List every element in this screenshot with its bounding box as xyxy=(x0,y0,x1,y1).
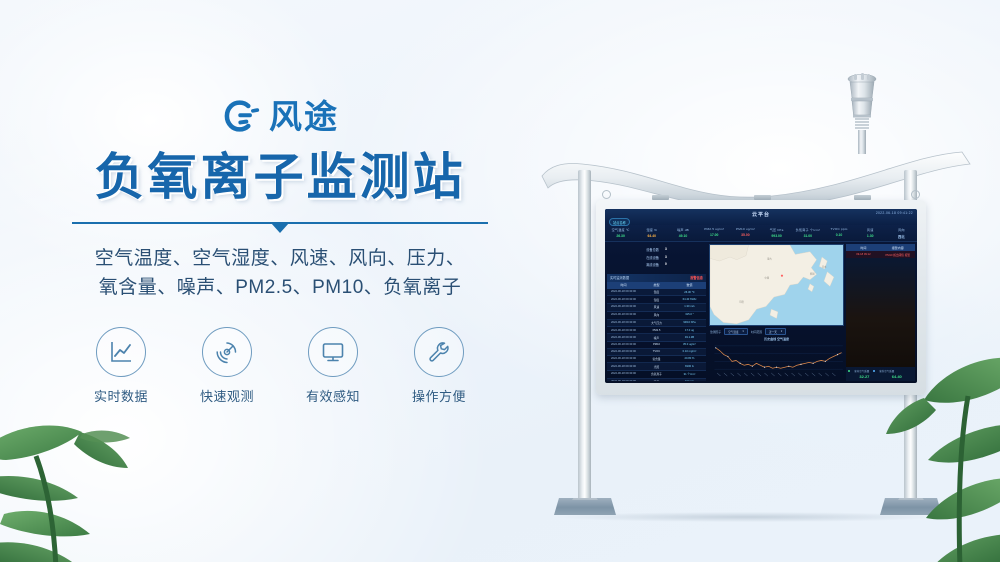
metric-card[interactable]: 湿度 % 64.40 xyxy=(636,225,667,241)
dashboard-header: 云平台 2022-06-18 09:41:22 站点名称 xyxy=(605,209,917,225)
page-title: 负氧离子监测站 xyxy=(0,150,560,204)
table-row[interactable]: 2022-06-18 09:30:00 湿度 64.40 %RH xyxy=(607,296,706,304)
metric-value: 49.10 xyxy=(667,234,698,238)
mount-ring-right xyxy=(911,190,920,199)
metric-name: TVOC ppm xyxy=(823,227,854,231)
metric-value: 31.00 xyxy=(792,234,823,238)
mount-tab-3 xyxy=(854,195,871,200)
feature-description: 空气温度、空气湿度、风速、风向、压力、 氧含量、噪声、PM2.5、PM10、负氧… xyxy=(0,244,560,303)
decorative-plant-left-icon xyxy=(0,328,204,562)
cell-value: 64.40 %RH xyxy=(673,298,706,302)
cell-type: 雨量 xyxy=(640,380,673,381)
cell-type: 负氧离子 xyxy=(640,372,673,376)
cell-time: 2022-06-18 09:30:00 xyxy=(607,290,640,294)
metric-card[interactable]: TVOC ppm 0.10 xyxy=(823,225,854,241)
metric-value: 西北 xyxy=(886,234,917,239)
table-row[interactable]: 2022-06-18 09:30:00 雨量 0.0 mm xyxy=(607,379,706,381)
table-header-bar: 实时监测数据 报警信息 xyxy=(607,274,706,282)
metric-value: 26.30 xyxy=(605,234,636,238)
metric-card[interactable]: 气压 hPa 993.00 xyxy=(761,225,792,241)
cell-value: 1.30 m/s xyxy=(673,305,706,309)
table-row[interactable]: 2022-06-18 09:30:00 温度 26.30 ℃ xyxy=(607,289,706,297)
chart-title: 历史曲线 空气温度 xyxy=(764,337,789,341)
feature-item-effective-sensing[interactable]: 有效感知 xyxy=(297,327,369,405)
dashboard-title: 云平台 xyxy=(752,211,770,218)
chevron-down-icon xyxy=(271,223,289,233)
fengtu-wind-logo-icon xyxy=(221,96,261,136)
alert-message: PM10 超出阈值 报警 xyxy=(881,253,915,257)
cell-time: 2022-06-18 09:30:00 xyxy=(607,336,640,340)
mount-tab-2 xyxy=(754,195,771,200)
time-range-select[interactable]: 近一天 ▾ xyxy=(765,328,786,335)
cell-type: 光照 xyxy=(640,365,673,369)
cell-time: 2022-06-18 09:30:00 xyxy=(607,350,640,353)
station-tag[interactable]: 站点名称 xyxy=(609,218,630,226)
metric-name: PM2.5 ug/m³ xyxy=(699,227,730,231)
table-row[interactable]: 2022-06-18 09:30:00 噪声 49.1 dB xyxy=(607,334,706,342)
cell-type: PM10 xyxy=(640,343,673,346)
brand-name: 风途 xyxy=(269,100,339,133)
table-row[interactable]: 2022-06-18 09:30:00 风向 315.0 ° xyxy=(607,312,706,320)
table-alert-link[interactable]: 报警信息 xyxy=(690,275,703,280)
metric-name: 负氧离子 个/cm³ xyxy=(792,227,823,232)
cell-type: 风速 xyxy=(640,305,673,309)
cell-value: 20.80 % xyxy=(673,357,706,361)
table-row[interactable]: 2022-06-18 09:30:00 负氧离子 31 个/cm³ xyxy=(607,371,706,379)
stat-label: 在线设备 xyxy=(646,255,659,260)
map-controls: 监测因子 空气温度 ▾ 时间范围 近一天 ▾ xyxy=(709,326,844,337)
cell-time: 2022-06-18 09:30:00 xyxy=(607,357,640,361)
dashboard-center-panel: 中国 蒙古 日本 韩国 印度 监测因子 空气温度 xyxy=(708,242,845,383)
mount-ring-left xyxy=(602,190,611,199)
metric-card[interactable]: 负氧离子 个/cm³ 31.00 xyxy=(792,225,823,241)
cell-type: 噪声 xyxy=(640,336,673,340)
cell-time: 2022-06-18 09:30:00 xyxy=(607,343,640,346)
metric-name: 湿度 % xyxy=(636,227,667,232)
cell-type: 风向 xyxy=(640,313,673,317)
cell-time: 2022-06-18 09:30:00 xyxy=(607,321,640,325)
control-label: 监测因子 xyxy=(710,330,721,334)
metric-name: PM10 ug/m³ xyxy=(730,227,761,231)
alert-row[interactable]: 09-18 09:12 PM10 超出阈值 报警 xyxy=(846,251,915,258)
cell-value: 0.10 mg/m³ xyxy=(673,350,706,353)
chevron-down-icon: ▾ xyxy=(743,330,744,334)
stat-value: 3 xyxy=(665,247,667,252)
cell-time: 2022-06-18 09:30:00 xyxy=(607,305,640,309)
table-row[interactable]: 2022-06-18 09:30:00 TVOC 0.10 mg/m³ xyxy=(607,349,706,356)
metric-value: 1.30 xyxy=(855,234,886,238)
cell-type: 温度 xyxy=(640,290,673,294)
metric-value: 64.40 xyxy=(636,234,667,238)
cell-value: 993.0 hPa xyxy=(673,321,706,325)
cell-value: 49.1 dB xyxy=(673,336,706,340)
description-line-2: 氧含量、噪声、PM2.5、PM10、负氧离子 xyxy=(0,273,560,302)
metric-value: 993.00 xyxy=(761,234,792,238)
table-row[interactable]: 2022-06-18 09:30:00 大气压力 993.0 hPa xyxy=(607,320,706,328)
stat-label: 离线设备 xyxy=(646,262,659,267)
cell-time: 2022-06-18 09:30:00 xyxy=(607,365,640,369)
column-header: 时间 xyxy=(607,283,640,287)
radar-signal-icon xyxy=(202,327,252,377)
feature-label: 有效感知 xyxy=(297,386,369,405)
title-divider xyxy=(0,214,560,234)
stat-row: 离线设备 0 xyxy=(607,262,706,267)
cell-time: 2022-06-18 09:30:00 xyxy=(607,372,640,376)
feature-item-easy-operation[interactable]: 操作方便 xyxy=(403,327,475,405)
cell-type: 氧含量 xyxy=(640,357,673,361)
post-base-left xyxy=(554,498,616,515)
alert-time: 09-18 09:12 xyxy=(846,253,880,257)
metric-card[interactable]: PM10 ug/m³ 35.00 xyxy=(730,225,761,241)
description-line-1: 空气温度、空气湿度、风速、风向、压力、 xyxy=(0,244,560,273)
column-header: 类型 xyxy=(640,283,673,287)
metric-card[interactable]: PM2.5 ug/m³ 17.00 xyxy=(699,225,730,241)
table-title: 实时监测数据 xyxy=(610,275,629,280)
table-row[interactable]: 2022-06-18 09:30:00 光照 8100 lx xyxy=(607,363,706,371)
cell-type: 大气压力 xyxy=(640,321,673,325)
decorative-plant-right-icon xyxy=(828,338,1000,562)
device-stats: 设备总数 3 在线设备 3 离线设备 0 xyxy=(607,244,706,273)
factor-select-value: 空气温度 xyxy=(728,330,738,334)
metric-card[interactable]: 噪声 dB 49.10 xyxy=(667,225,698,241)
stat-value: 0 xyxy=(665,262,667,267)
data-table-rows[interactable]: 2022-06-18 09:30:00 温度 26.30 ℃ 2022-06-1… xyxy=(607,289,706,382)
table-row[interactable]: 2022-06-18 09:30:00 风速 1.30 m/s xyxy=(607,304,706,312)
feature-label: 操作方便 xyxy=(403,386,475,405)
wrench-icon xyxy=(414,327,464,377)
chevron-down-icon: ▾ xyxy=(781,330,782,334)
cell-value: 31 个/cm³ xyxy=(673,372,706,376)
metric-card[interactable]: 风向 西北 xyxy=(886,225,917,241)
table-row[interactable]: 2022-06-18 09:30:00 PM10 35.0 ug/m³ xyxy=(607,342,706,349)
dashboard-left-panel: 设备总数 3 在线设备 3 离线设备 0 实时监测数据 xyxy=(605,242,708,383)
stat-value: 3 xyxy=(665,255,667,260)
monitor-icon xyxy=(308,327,358,377)
alert-column-header: 报警内容 xyxy=(881,246,915,250)
cell-time: 2022-06-18 09:30:00 xyxy=(607,298,640,302)
metric-card[interactable]: 风速 1.30 xyxy=(855,225,886,241)
cell-value: 17.0 ug xyxy=(673,329,706,332)
cell-time: 2022-06-18 09:30:00 xyxy=(607,313,640,317)
cell-type: 湿度 xyxy=(640,298,673,302)
metric-name: 风速 xyxy=(855,227,886,232)
factor-select[interactable]: 空气温度 ▾ xyxy=(724,328,748,335)
metric-strip: 空气温度 ℃ 26.30 湿度 % 64.40 噪声 dB 49.10 PM2.… xyxy=(605,225,917,242)
cell-value: 8100 lx xyxy=(673,365,706,369)
cell-type: PM2.5 xyxy=(640,329,673,332)
metric-name: 空气温度 ℃ xyxy=(605,227,636,232)
metric-card[interactable]: 空气温度 ℃ 26.30 xyxy=(605,225,636,241)
stat-label: 设备总数 xyxy=(646,247,659,252)
metric-value: 35.00 xyxy=(730,233,761,237)
metric-value: 0.10 xyxy=(823,233,854,237)
cell-value: 26.30 ℃ xyxy=(673,290,706,294)
alert-column-header: 时间 xyxy=(846,246,880,250)
table-row[interactable]: 2022-06-18 09:30:00 氧含量 20.80 % xyxy=(607,356,706,364)
cell-value: 0.0 mm xyxy=(673,380,706,381)
time-range-value: 近一天 xyxy=(769,330,777,334)
table-row[interactable]: 2022-06-18 09:30:00 PM2.5 17.0 ug xyxy=(607,327,706,334)
mount-tab-1 xyxy=(652,195,669,200)
stat-row: 在线设备 3 xyxy=(607,255,706,260)
control-label: 时间范围 xyxy=(751,330,762,334)
cell-value: 315.0 ° xyxy=(673,313,706,317)
china-map[interactable]: 中国 蒙古 日本 韩国 印度 xyxy=(709,244,844,326)
cell-time: 2022-06-18 09:30:00 xyxy=(607,380,640,381)
stat-row: 设备总数 3 xyxy=(607,247,706,252)
metric-name: 气压 hPa xyxy=(761,227,792,232)
dashboard-clock: 2022-06-18 09:41:22 xyxy=(876,211,913,215)
cell-time: 2022-06-18 09:30:00 xyxy=(607,329,640,332)
column-header: 数值 xyxy=(673,283,706,287)
metric-name: 风向 xyxy=(886,227,917,232)
history-line-chart[interactable]: 历史曲线 空气温度 xyxy=(709,337,844,381)
metric-value: 17.00 xyxy=(699,233,730,237)
brand-logo: 风途 xyxy=(0,96,560,136)
cell-value: 35.0 ug/m³ xyxy=(673,343,706,346)
metric-name: 噪声 dB xyxy=(667,227,698,232)
support-post-left xyxy=(578,170,591,500)
alert-column-headers: 时间 报警内容 xyxy=(846,244,915,251)
table-column-headers: 时间 类型 数值 xyxy=(607,282,706,289)
cell-type: TVOC xyxy=(640,350,673,353)
